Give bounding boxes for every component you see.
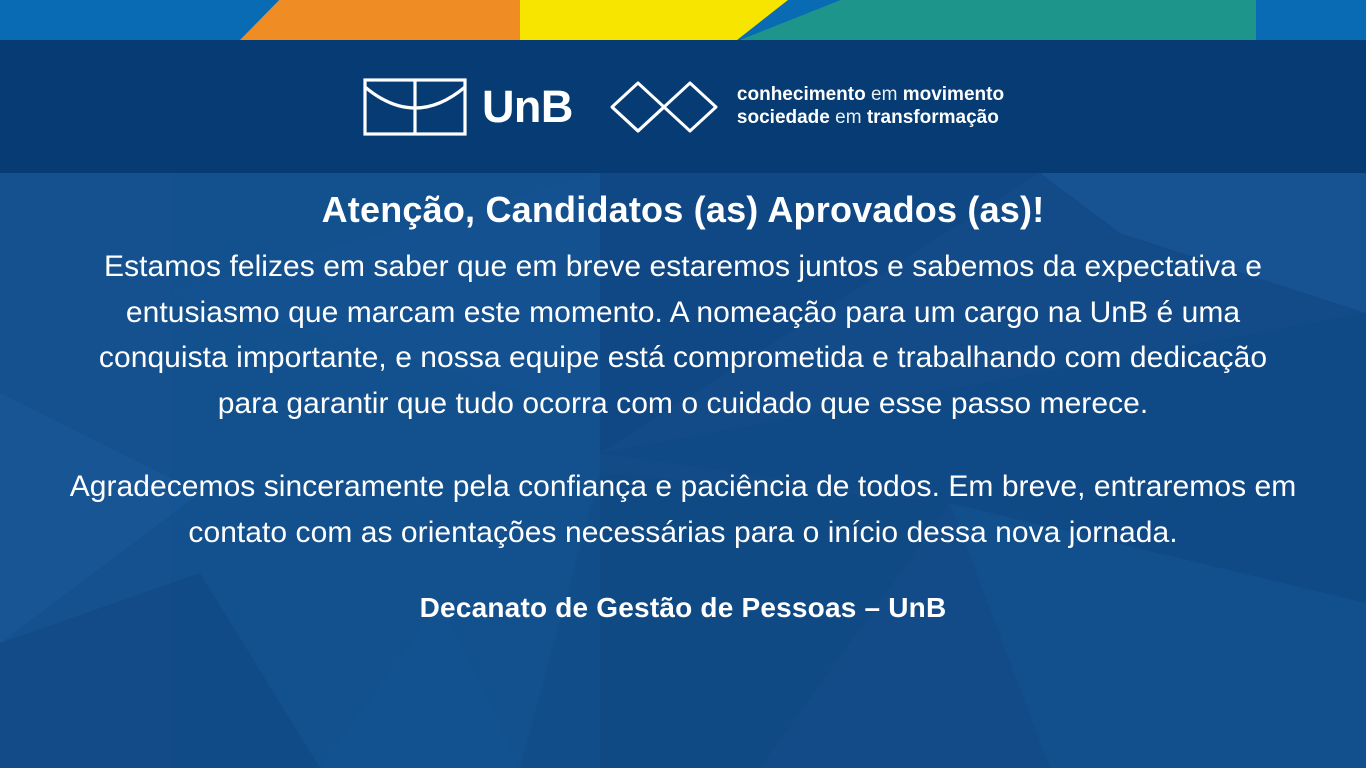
tagline-line-1-word-1: conhecimento [737,84,866,105]
tagline-text: conhecimento em movimento sociedade em t… [737,84,1004,129]
tagline-line-2-word-1: sociedade [737,107,830,128]
unb-wordmark: UnB [482,84,573,129]
logo-row: UnB conhecimento em movimento sociedade … [0,40,1366,173]
page-title: Atenção, Candidatos (as) Aprovados (as)! [0,173,1366,232]
tagline-line-1: conhecimento em movimento [737,84,1004,106]
tagline-line-1-word-2: em [871,84,897,105]
strip-segment-yellow [520,0,788,40]
body-paragraph-2: Agradecemos sinceramente pela confiança … [68,426,1298,555]
poster-content: Atenção, Candidatos (as) Aprovados (as)!… [0,173,1366,768]
top-color-strip [0,0,1366,40]
infinity-ribbon-icon [609,76,719,138]
header-band: UnB conhecimento em movimento sociedade … [0,40,1366,173]
tagline-line-2-word-3: transformação [867,107,999,128]
unb-rectangle-icon [362,77,468,137]
strip-segment-orange [240,0,520,40]
unb-logo: UnB [362,77,573,137]
poster-canvas: UnB conhecimento em movimento sociedade … [0,0,1366,768]
body-paragraph-1: Estamos felizes em saber que em breve es… [68,232,1298,426]
tagline-line-1-word-3: movimento [903,84,1004,105]
tagline-line-2: sociedade em transformação [737,107,1004,129]
signature-line: Decanato de Gestão de Pessoas – UnB [0,556,1366,624]
tagline-line-2-word-2: em [835,107,861,128]
strip-segment-teal [740,0,1256,40]
tagline-logo: conhecimento em movimento sociedade em t… [609,76,1004,138]
